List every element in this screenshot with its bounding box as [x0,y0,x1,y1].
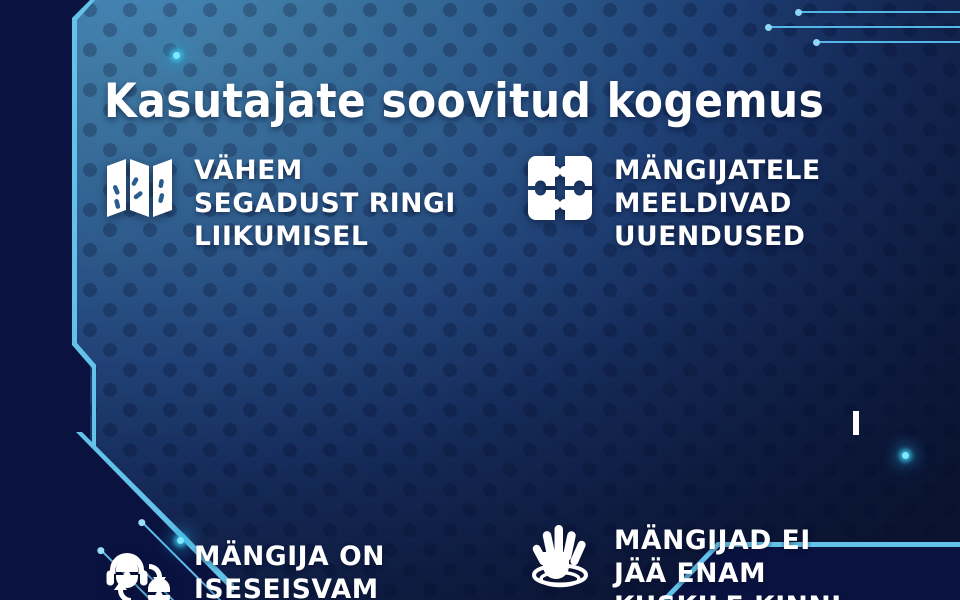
feature-label-player-independent: MÄNGIJA ON ISESEISVAM [194,538,385,600]
accent-line-top-right-2 [768,26,960,28]
feature-line: LIIKUMISEL [194,220,456,253]
feature-label-less-confusion: VÄHEM SEGADUST RINGI LIIKUMISEL [194,152,456,253]
feature-line: MÄNGIJAD EI [614,524,842,557]
headset-support-swap-icon [104,542,176,600]
feature-grid: VÄHEM SEGADUST RINGI LIIKUMISEL MÄNGIJAT [104,152,904,462]
feature-line: SEGADUST RINGI [194,187,456,220]
accent-line-top-right-1 [798,11,960,13]
feature-label-players-like-updates: MÄNGIJATELE MEELDIVAD UUENDUSED [614,152,821,253]
feature-line: KUSKILE KINNI [614,590,842,600]
feature-line: MEELDIVAD [614,187,821,220]
page-title: Kasutajate soovitud kogemus [104,74,824,129]
feature-item-less-confusion: VÄHEM SEGADUST RINGI LIIKUMISEL [104,152,524,342]
puzzle-pieces-icon [524,152,596,224]
feature-line: VÄHEM [194,154,456,187]
feature-line: JÄÄ ENAM [614,557,842,590]
feature-line: UUENDUSED [614,220,821,253]
feature-line: ISESEISVAM [194,573,385,600]
slide-canvas: Kasutajate soovitud kogemus [0,0,960,600]
hand-in-water-icon [524,522,596,594]
glow-dot-top-left [173,52,180,59]
glow-dot-bottom-left [177,537,184,544]
feature-line: MÄNGIJATELE [614,154,821,187]
accent-line-top-right-3 [816,41,960,43]
feature-line: MÄNGIJA ON [194,540,385,573]
feature-item-players-like-updates: MÄNGIJATELE MEELDIVAD UUENDUSED [524,152,904,342]
feature-label-players-not-stuck: MÄNGIJAD EI JÄÄ ENAM KUSKILE KINNI [614,522,842,600]
folded-map-icon [104,152,176,224]
